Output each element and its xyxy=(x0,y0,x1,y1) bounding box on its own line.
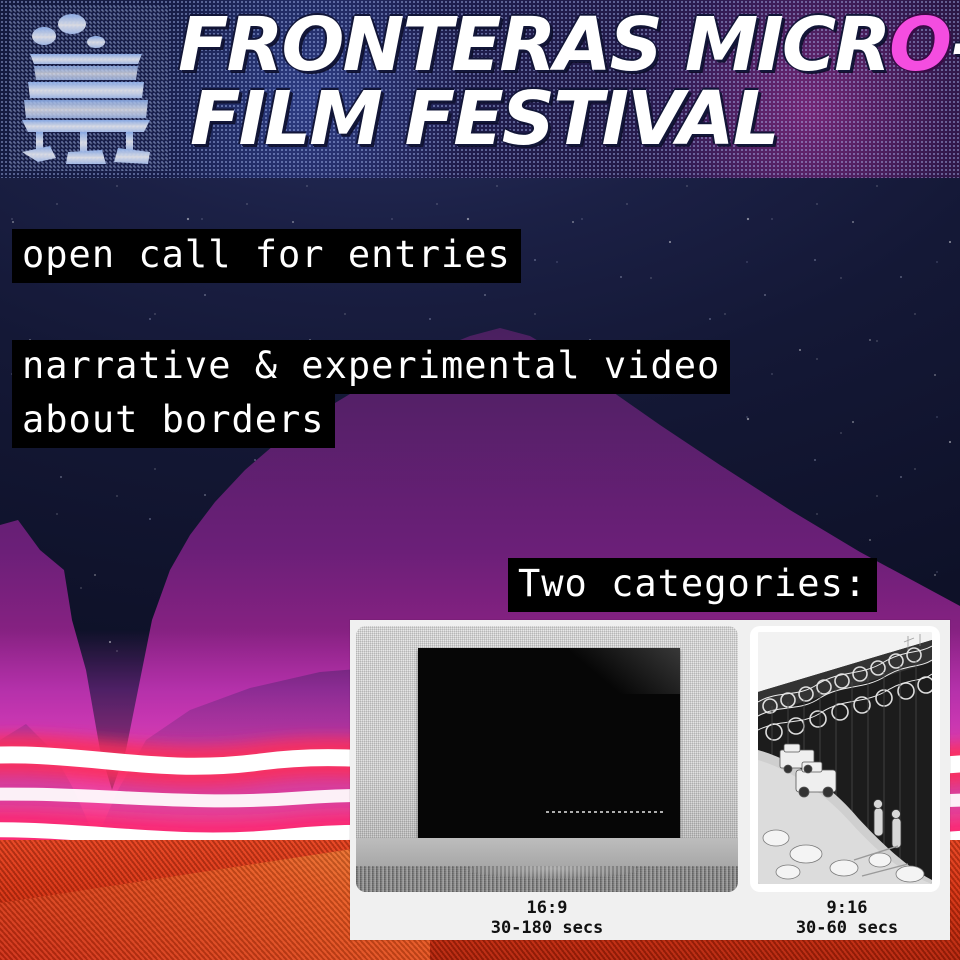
categories-panel: 16:9 30-180 secs 9:16 30-60 secs xyxy=(350,620,950,940)
open-call-headline: open call for entries xyxy=(12,229,521,283)
screen-text-line xyxy=(546,811,666,813)
category-cards xyxy=(350,620,950,898)
festival-title: FRONTERAS MICRO- FILM FESTIVAL xyxy=(178,6,958,176)
caption-aspect-16x9: 16:9 xyxy=(350,898,744,918)
category-card-9x16[interactable] xyxy=(750,626,940,892)
shelf-surface xyxy=(356,838,738,866)
shelf-edge xyxy=(356,866,738,892)
category-captions: 16:9 30-180 secs 9:16 30-60 secs xyxy=(350,898,950,940)
caption-aspect-9x16: 9:16 xyxy=(744,898,950,918)
categories-heading: Two categories: xyxy=(508,558,877,612)
caption-16x9: 16:9 30-180 secs xyxy=(350,898,744,940)
festival-logo-icon xyxy=(10,6,168,171)
category-card-16x9[interactable] xyxy=(356,626,738,892)
description-line-2: about borders xyxy=(12,394,335,448)
title-line1-tail: - xyxy=(951,2,960,88)
poster-canvas: FRONTERAS MICRO- FILM FESTIVAL open call… xyxy=(0,0,960,960)
caption-duration-9x16: 30-60 secs xyxy=(744,918,950,939)
tv-screen xyxy=(418,648,680,845)
title-accent-o: O xyxy=(889,2,951,88)
caption-9x16: 9:16 30-60 secs xyxy=(744,898,950,940)
screen-sheen xyxy=(570,648,680,694)
border-wall-scene xyxy=(758,632,932,884)
caption-duration-16x9: 30-180 secs xyxy=(350,918,744,939)
description-line-1: narrative & experimental video xyxy=(12,340,730,394)
border-wall-photo xyxy=(758,632,932,884)
header-band: FRONTERAS MICRO- FILM FESTIVAL xyxy=(0,0,960,178)
title-line2-text: FILM FESTIVAL xyxy=(190,84,778,154)
tv-photo xyxy=(356,626,738,892)
